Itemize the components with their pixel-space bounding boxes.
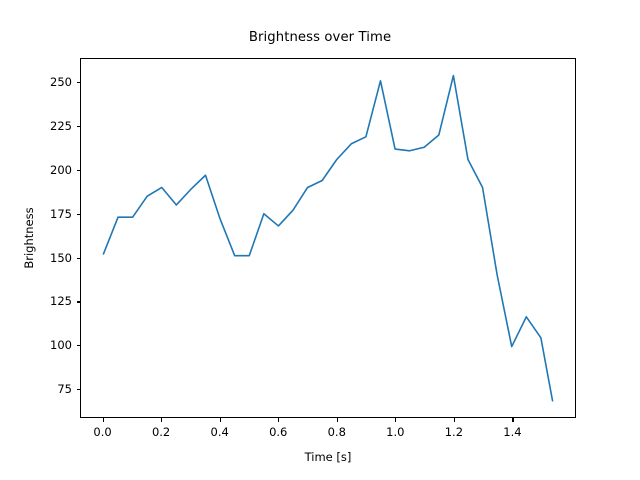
x-tick-mark: [278, 418, 279, 422]
x-tick-label: 1.0: [386, 425, 404, 439]
line-series-svg: [81, 59, 575, 417]
x-tick-mark: [454, 418, 455, 422]
x-tick-mark: [161, 418, 162, 422]
x-tick-label: 0.2: [152, 425, 170, 439]
x-tick-mark: [337, 418, 338, 422]
x-axis-label: Time [s]: [80, 450, 576, 464]
matplotlib-figure: Brightness over Time 7510012515017520022…: [0, 0, 640, 480]
y-tick-mark: [77, 345, 81, 346]
x-tick-label: 1.4: [503, 425, 521, 439]
x-tick-label: 0.4: [211, 425, 229, 439]
y-tick-mark: [77, 82, 81, 83]
x-tick-mark: [512, 418, 513, 422]
plot-axes-area: [80, 58, 576, 418]
y-tick-mark: [77, 389, 81, 390]
x-tick-label: 1.2: [445, 425, 463, 439]
y-tick-mark: [77, 258, 81, 259]
y-axis-label: Brightness: [22, 58, 40, 418]
y-tick-mark: [77, 214, 81, 215]
x-tick-mark: [103, 418, 104, 422]
x-tick-label: 0.6: [269, 425, 287, 439]
y-tick-mark: [77, 170, 81, 171]
x-tick-mark: [220, 418, 221, 422]
x-tick-label: 0.0: [93, 425, 111, 439]
y-tick-mark: [77, 301, 81, 302]
chart-title: Brightness over Time: [0, 30, 640, 45]
x-tick-label: 0.8: [328, 425, 346, 439]
y-tick-mark: [77, 126, 81, 127]
x-tick-mark: [395, 418, 396, 422]
brightness-line: [103, 76, 552, 401]
